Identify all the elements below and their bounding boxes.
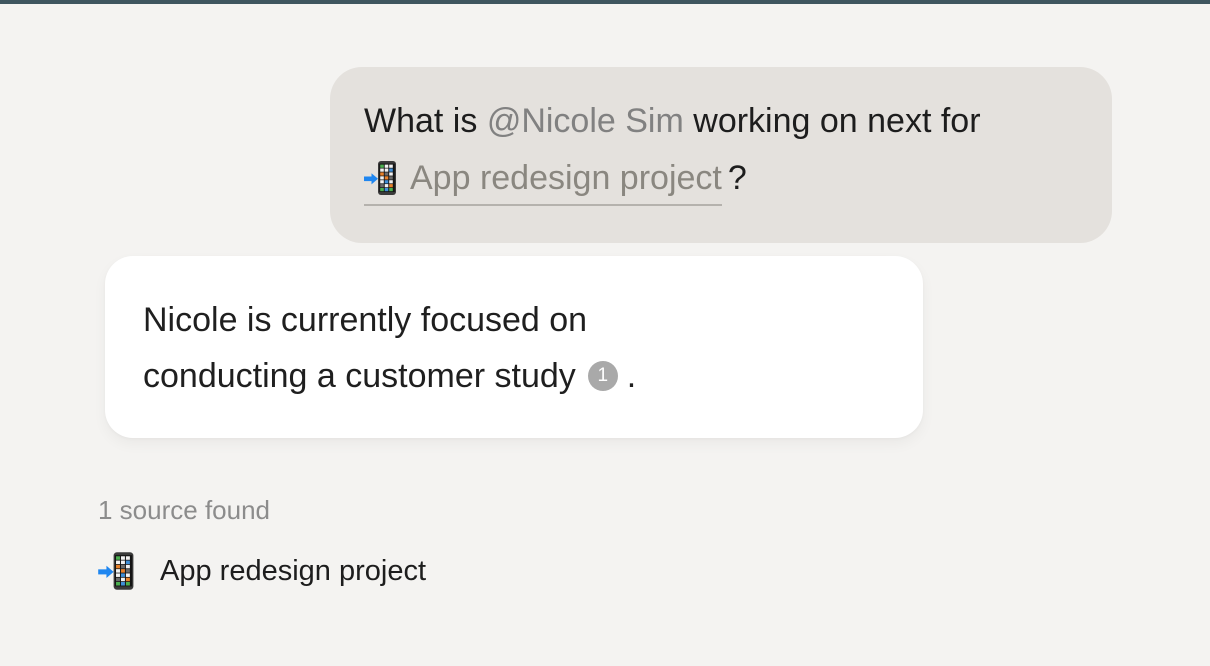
answer-text-before-citation: conducting a customer study	[143, 348, 576, 404]
app-project-phone-icon	[98, 549, 138, 593]
source-item-title: App redesign project	[160, 553, 426, 589]
window-top-strip	[0, 0, 1210, 4]
sources-count-label: 1 source found	[98, 493, 698, 527]
answer-text-after-citation: .	[627, 348, 636, 404]
question-middle: working on next for	[684, 102, 981, 140]
source-list-item[interactable]: App redesign project	[98, 549, 698, 593]
answer-line-2: conducting a customer study 1 .	[143, 348, 885, 404]
question-bubble: What is @Nicole Sim working on next for	[330, 67, 1112, 243]
app-project-phone-icon	[364, 158, 400, 198]
sources-section: 1 source found	[98, 493, 698, 593]
question-suffix: ?	[728, 150, 747, 213]
conversation-panel: What is @Nicole Sim working on next for	[0, 0, 1210, 666]
document-reference-label: App redesign project	[410, 158, 722, 198]
question-prefix: What is	[364, 102, 487, 140]
question-line-1: What is @Nicole Sim working on next for	[364, 93, 1078, 150]
question-line-2: App redesign project ?	[364, 150, 1078, 213]
document-reference-chip[interactable]: App redesign project	[364, 158, 722, 206]
citation-badge-1[interactable]: 1	[588, 361, 618, 391]
answer-card: Nicole is currently focused on conductin…	[105, 256, 923, 438]
mention-nicole-sim[interactable]: @Nicole Sim	[487, 102, 684, 140]
answer-line-1: Nicole is currently focused on	[143, 292, 885, 348]
